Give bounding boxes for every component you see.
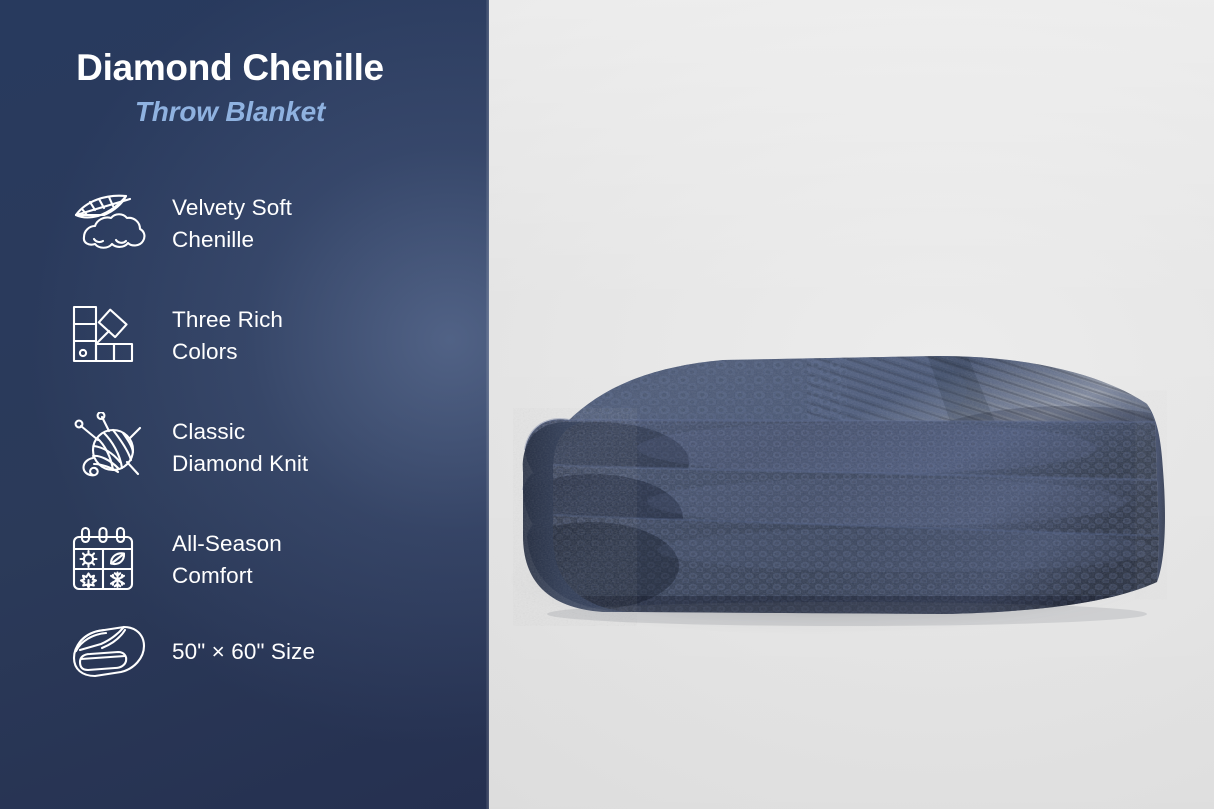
- feature-item-three-rich-colors: Three Rich Colors: [68, 280, 468, 392]
- feature-item-all-season-comfort: All-Season Comfort: [68, 504, 468, 616]
- panel-divider: [486, 0, 489, 809]
- folded-blanket-illustration: [507, 330, 1167, 630]
- blanket-right-end: [1137, 400, 1167, 590]
- feature-item-size: 50" × 60" Size: [68, 616, 468, 688]
- feature-label: Classic Diamond Knit: [172, 416, 308, 480]
- feather-cloud-icon: [68, 188, 154, 260]
- info-panel: Diamond Chenille Throw Blanket: [0, 0, 489, 809]
- yarn-ball-knitting-needles-icon: [68, 412, 154, 484]
- page-subtitle: Throw Blanket: [0, 96, 460, 128]
- feature-label: 50" × 60" Size: [172, 636, 315, 668]
- page-title: Diamond Chenille: [0, 48, 460, 89]
- feature-label: Three Rich Colors: [172, 304, 283, 368]
- blanket-left-fold-edge: [519, 418, 631, 616]
- folded-blanket-icon: [68, 616, 154, 688]
- feature-label: All-Season Comfort: [172, 528, 282, 592]
- feature-item-velvety-soft-chenille: Velvety Soft Chenille: [68, 168, 468, 280]
- four-season-calendar-icon: [68, 524, 154, 596]
- color-swatches-icon: [68, 300, 154, 372]
- feature-item-classic-diamond-knit: Classic Diamond Knit: [68, 392, 468, 504]
- title-block: Diamond Chenille Throw Blanket: [0, 48, 460, 128]
- feature-list: Velvety Soft Chenille Thre: [68, 168, 468, 688]
- product-stage: [489, 0, 1214, 809]
- infographic-canvas: Diamond Chenille Throw Blanket: [0, 0, 1214, 809]
- feature-label: Velvety Soft Chenille: [172, 192, 292, 256]
- product-image: [507, 330, 1167, 660]
